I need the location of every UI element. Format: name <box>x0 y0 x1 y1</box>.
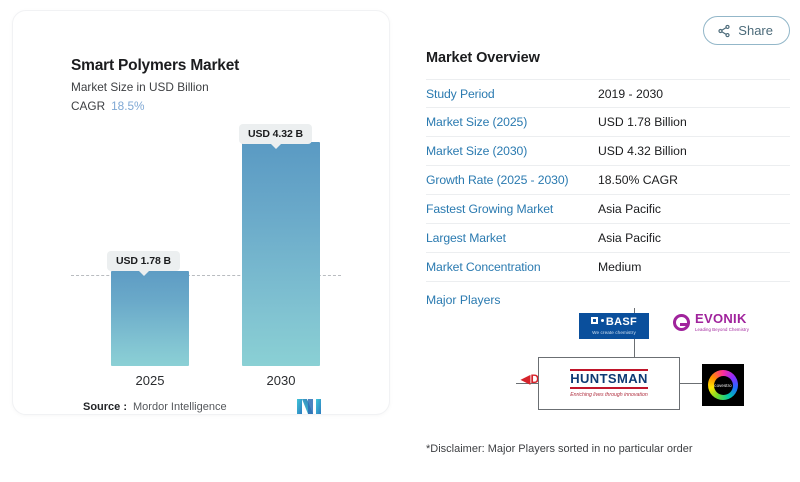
table-row: Market Concentration Medium <box>426 253 790 282</box>
bar-label-2025: USD 1.78 B <box>107 251 180 271</box>
table-row: Fastest Growing Market Asia Pacific <box>426 195 790 224</box>
bar-chart-plot: USD 1.78 B USD 4.32 B 2025 2030 <box>13 11 391 416</box>
row-key: Largest Market <box>426 231 598 245</box>
row-value: USD 4.32 Billion <box>598 144 687 158</box>
major-players-logo-grid: BASF We create chemistry EVONIK Leading … <box>516 308 756 410</box>
logo-evonik: EVONIK Leading Beyond Chemistry <box>673 312 749 332</box>
row-value: 2019 - 2030 <box>598 87 663 101</box>
logo-huntsman: HUNTSMAN Enriching lives through innovat… <box>538 357 680 410</box>
row-value: Asia Pacific <box>598 202 661 216</box>
table-row: Largest Market Asia Pacific <box>426 224 790 253</box>
logo-evonik-name: EVONIK <box>695 312 749 325</box>
row-key: Market Size (2025) <box>426 115 598 129</box>
logo-covestro: covestro <box>702 364 744 406</box>
bar-2030[interactable] <box>242 142 320 366</box>
row-value: USD 1.78 Billion <box>598 115 687 129</box>
logo-basf: BASF We create chemistry <box>579 313 649 339</box>
chart-card: Smart Polymers Market Market Size in USD… <box>12 10 390 415</box>
table-row: Growth Rate (2025 - 2030) 18.50% CAGR <box>426 166 790 195</box>
table-row: Study Period 2019 - 2030 <box>426 79 790 108</box>
row-key: Fastest Growing Market <box>426 202 598 216</box>
major-players-label: Major Players <box>426 293 501 307</box>
source-name: Mordor Intelligence <box>133 401 227 413</box>
share-button[interactable]: Share <box>703 16 790 45</box>
share-button-label: Share <box>738 23 773 38</box>
disclaimer-text: *Disclaimer: Major Players sorted in no … <box>426 443 693 455</box>
row-key: Study Period <box>426 87 598 101</box>
chart-source: Source : Mordor Intelligence <box>83 401 227 413</box>
table-row: Market Size (2030) USD 4.32 Billion <box>426 137 790 166</box>
row-key: Market Size (2030) <box>426 144 598 158</box>
logo-covestro-name: covestro <box>714 383 731 388</box>
logo-basf-name: BASF <box>606 316 637 328</box>
row-key: Growth Rate (2025 - 2030) <box>426 173 598 187</box>
mordor-intelligence-logo-icon <box>296 398 322 415</box>
row-value: Medium <box>598 260 641 274</box>
share-nodes-icon <box>717 24 731 38</box>
grid-divider <box>680 383 702 384</box>
covestro-ring-icon: covestro <box>708 370 738 400</box>
row-value: 18.50% CAGR <box>598 173 678 187</box>
row-key: Market Concentration <box>426 260 598 274</box>
source-label: Source : <box>83 401 127 413</box>
logo-basf-tagline: We create chemistry <box>592 330 636 335</box>
logo-huntsman-tagline: Enriching lives through innovation <box>570 392 648 398</box>
bar-2025[interactable] <box>111 271 189 366</box>
market-snapshot-page: Smart Polymers Market Market Size in USD… <box>0 0 800 482</box>
overview-heading: Market Overview <box>426 50 540 66</box>
overview-table: Study Period 2019 - 2030 Market Size (20… <box>426 79 790 282</box>
x-tick-2025: 2025 <box>95 373 205 388</box>
logo-evonik-tagline: Leading Beyond Chemistry <box>695 327 749 332</box>
logo-huntsman-name: HUNTSMAN <box>570 369 648 389</box>
table-row: Market Size (2025) USD 1.78 Billion <box>426 108 790 137</box>
evonik-mark-icon <box>673 314 690 331</box>
x-tick-2030: 2030 <box>226 373 336 388</box>
bar-label-2030: USD 4.32 B <box>239 124 312 144</box>
market-overview-panel: Share Market Overview Study Period 2019 … <box>424 0 800 482</box>
row-value: Asia Pacific <box>598 231 661 245</box>
